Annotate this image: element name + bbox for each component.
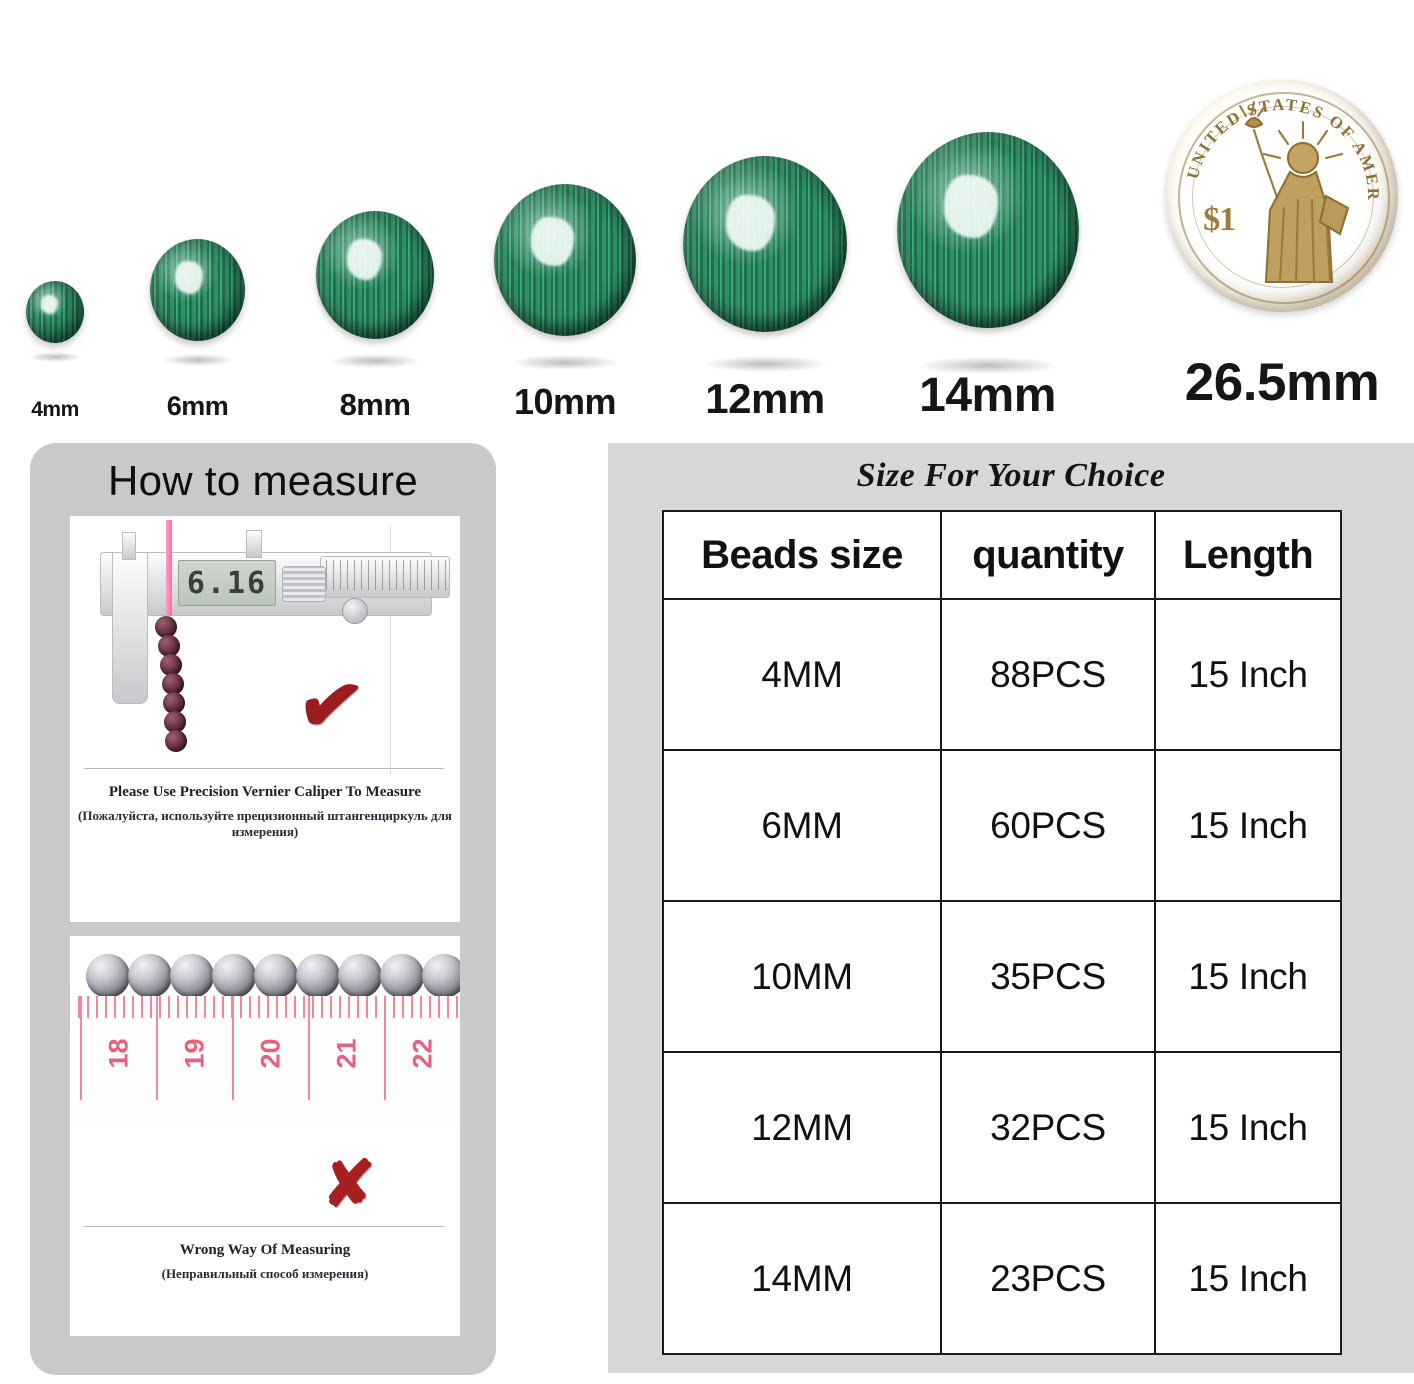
cell-quantity: 60PCS: [941, 750, 1155, 901]
bead-size-item-12mm: 12mm: [665, 80, 865, 420]
wrong-caption-ru: (Неправильный способ измерения): [70, 1266, 460, 1282]
bead-size-item-6mm: 6mm: [125, 80, 270, 420]
cell-quantity: 32PCS: [941, 1052, 1155, 1203]
tape-measure: 18 19 20 21 22: [78, 996, 460, 1126]
size-table-panel: Size For Your Choice Beads size quantity…: [608, 443, 1414, 1373]
strand-bead: [422, 954, 460, 998]
us-dollar-coin-icon: UNITED STATES OF AMERICA $1: [1166, 80, 1398, 312]
checkmark-icon: ✔: [293, 662, 369, 748]
wrong-caption-en: Wrong Way Of Measuring: [70, 1242, 460, 1259]
malachite-bead-icon: [897, 132, 1079, 328]
bead-size-label: 12mm: [705, 378, 824, 420]
caliper-reading: 6.16: [187, 566, 267, 601]
wrong-method-photo: 18 19 20 21 22 ✘ Wrong Way Of Measuring …: [70, 936, 460, 1336]
strand-bead: [296, 954, 340, 998]
tape-number: 21: [332, 1037, 363, 1071]
caliper-jaw-tip: [122, 532, 136, 560]
bead-size-label: 4mm: [31, 399, 79, 420]
tape-number: 18: [104, 1037, 135, 1071]
pink-rod: [166, 520, 172, 616]
cell-beads-size: 10MM: [663, 901, 941, 1052]
table-row: 14MM 23PCS 15 Inch: [663, 1203, 1341, 1354]
table-row: 4MM 88PCS 15 Inch: [663, 599, 1341, 750]
strand-bead: [254, 954, 298, 998]
tape-number: 22: [408, 1037, 439, 1071]
cell-beads-size: 14MM: [663, 1203, 941, 1354]
cell-beads-size: 4MM: [663, 599, 941, 750]
malachite-bead-icon: [683, 156, 847, 332]
bead-size-label: 6mm: [167, 393, 229, 420]
cell-quantity: 23PCS: [941, 1203, 1155, 1354]
svg-text:UNITED STATES OF AMERICA: UNITED STATES OF AMERICA: [1166, 80, 1383, 202]
column-header-beads-size: Beads size: [663, 511, 941, 599]
bead-size-label: 10mm: [514, 384, 616, 420]
table-row: 12MM 32PCS 15 Inch: [663, 1052, 1341, 1203]
bead-size-label: 14mm: [919, 372, 1056, 420]
strand-bead: [86, 954, 130, 998]
strand-bead: [380, 954, 424, 998]
cell-length: 15 Inch: [1155, 901, 1341, 1052]
cross-icon: ✘: [322, 1152, 376, 1216]
bead-size-item-10mm: 10mm: [475, 80, 655, 420]
size-table-title: Size For Your Choice: [608, 457, 1414, 495]
column-header-length: Length: [1155, 511, 1341, 599]
bead-size-item-8mm: 8mm: [295, 80, 455, 420]
caliper-depth-rod: [246, 530, 262, 558]
correct-method-photo: 6.16 ✔ Please Use Precision Vernier Ca: [70, 516, 460, 922]
coin-size-item-26-5mm: UNITED STATES OF AMERICA $1: [1150, 80, 1414, 420]
measured-bead: [165, 730, 187, 752]
cell-quantity: 35PCS: [941, 901, 1155, 1052]
strand-bead: [170, 954, 214, 998]
bead-size-label: 8mm: [340, 389, 411, 420]
table-row: 10MM 35PCS 15 Inch: [663, 901, 1341, 1052]
table-header-row: Beads size quantity Length: [663, 511, 1341, 599]
cell-length: 15 Inch: [1155, 1203, 1341, 1354]
cell-length: 15 Inch: [1155, 1052, 1341, 1203]
cell-quantity: 88PCS: [941, 599, 1155, 750]
correct-caption-en: Please Use Precision Vernier Caliper To …: [70, 784, 460, 801]
tape-number: 19: [180, 1037, 211, 1071]
size-table: Beads size quantity Length 4MM 88PCS 15 …: [662, 510, 1342, 1355]
cell-beads-size: 12MM: [663, 1052, 941, 1203]
how-to-measure-title: How to measure: [30, 457, 496, 505]
strand-bead: [338, 954, 382, 998]
malachite-bead-icon: [150, 239, 245, 341]
bead-size-item-14mm: 14mm: [880, 80, 1095, 420]
table-row: 6MM 60PCS 15 Inch: [663, 750, 1341, 901]
statue-of-liberty-motif: UNITED STATES OF AMERICA: [1166, 80, 1398, 312]
column-header-quantity: quantity: [941, 511, 1155, 599]
bead-size-item-4mm: 4mm: [0, 80, 110, 420]
size-comparison-strip: 4mm 6mm 8mm 10mm 12mm 14mm: [0, 0, 1414, 420]
coin-size-label: 26.5mm: [1185, 356, 1379, 409]
cell-length: 15 Inch: [1155, 599, 1341, 750]
strand-bead: [128, 954, 172, 998]
strand-bead: [212, 954, 256, 998]
cell-length: 15 Inch: [1155, 750, 1341, 901]
caliper-display: 6.16: [178, 560, 276, 606]
malachite-bead-icon: [494, 184, 636, 336]
tape-number: 20: [256, 1037, 287, 1071]
malachite-bead-icon: [316, 211, 434, 339]
correct-caption-ru: (Пожалуйста, используйте прецизионный шт…: [70, 808, 460, 840]
cell-beads-size: 6MM: [663, 750, 941, 901]
how-to-measure-card: How to measure 6.16: [30, 443, 496, 1375]
caliper-jaw: [112, 552, 148, 704]
malachite-bead-icon: [26, 281, 84, 343]
coin-denomination: $1: [1203, 201, 1235, 239]
